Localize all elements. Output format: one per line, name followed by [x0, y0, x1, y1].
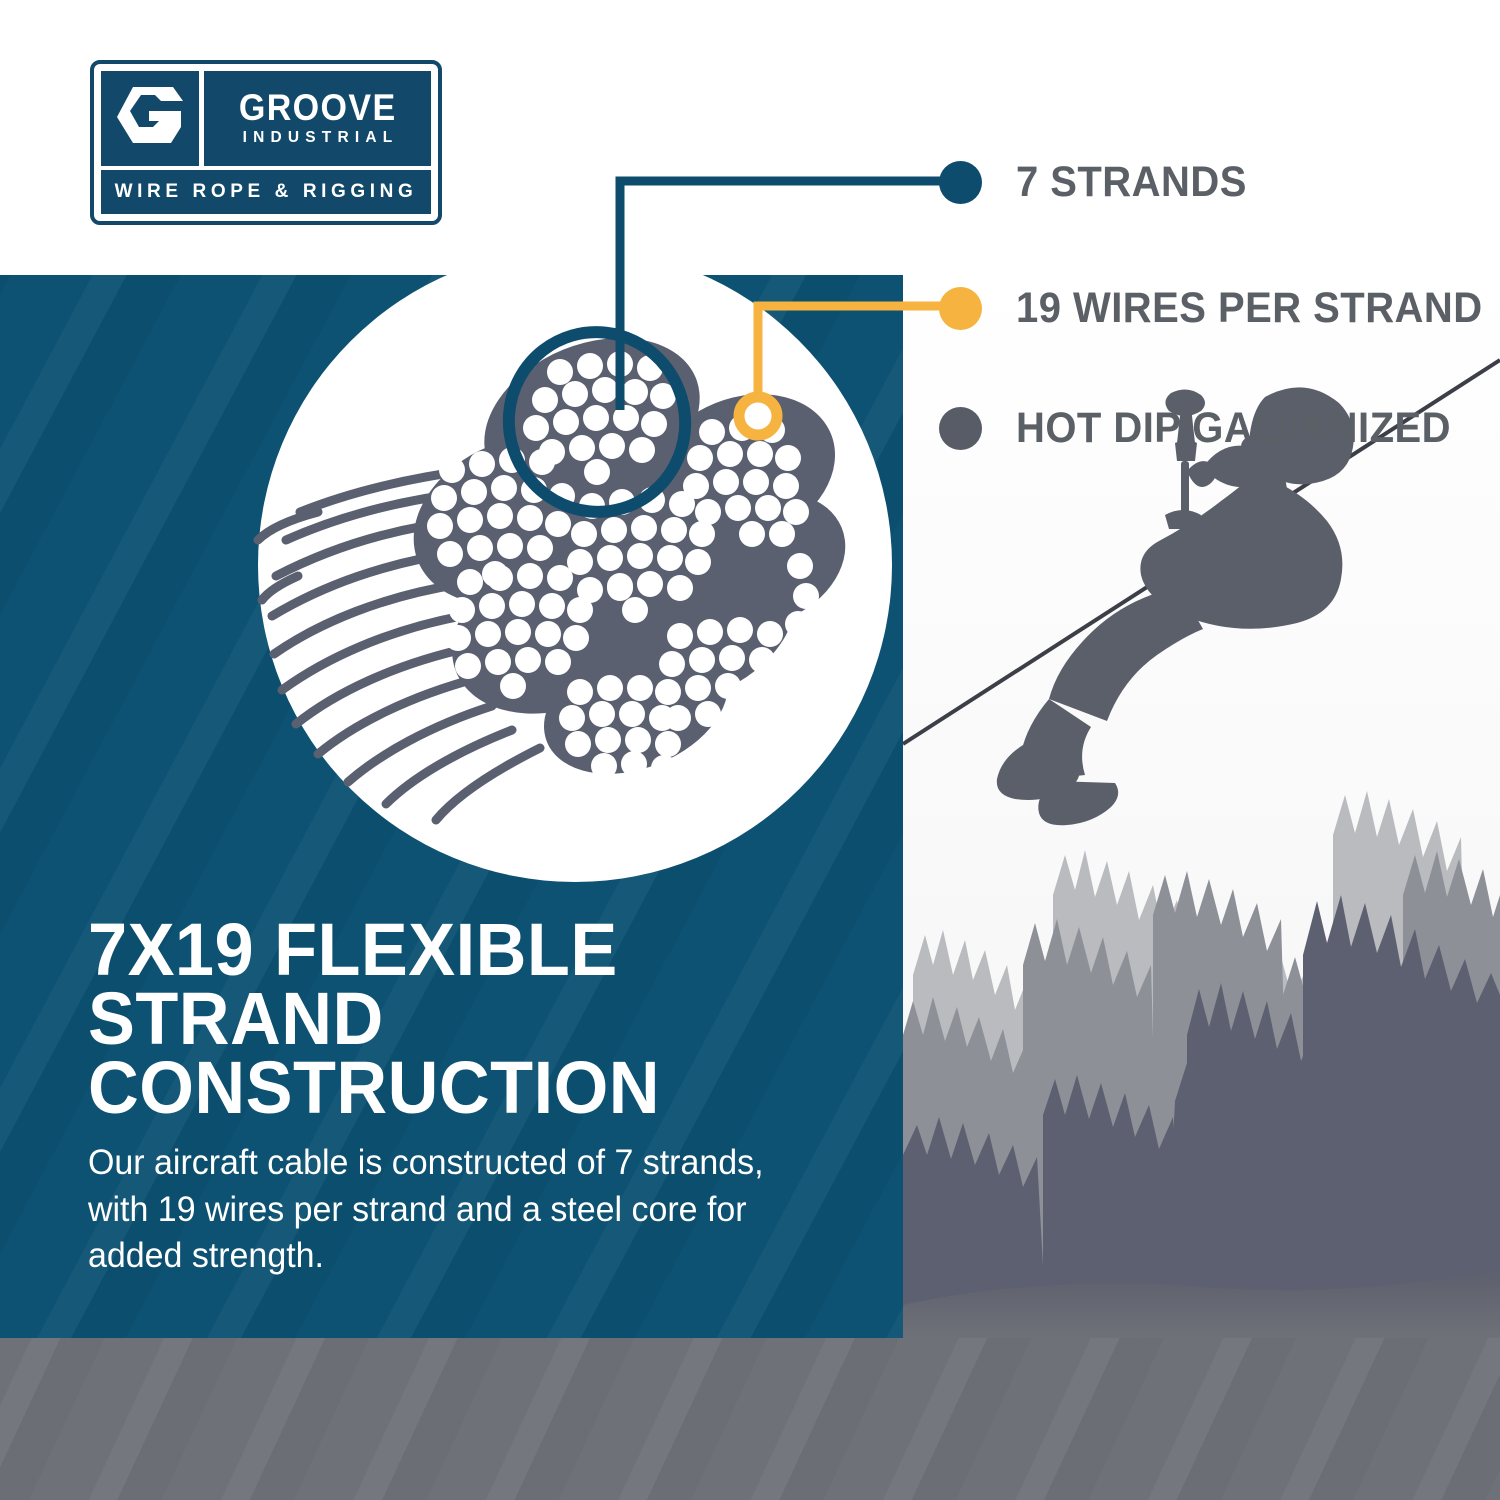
- page-title: 7X19 FLEXIBLE STRAND CONSTRUCTION: [88, 916, 839, 1122]
- brand-tagline: WIRE ROPE & RIGGING: [115, 181, 418, 203]
- illustration-disc: [258, 248, 892, 882]
- infographic-page: 7 STRANDS 19 WIRES PER STRAND HOT DIP GA…: [0, 0, 1500, 1500]
- headline-line-1: 7X19 FLEXIBLE: [88, 916, 839, 985]
- callout-galvanized: HOT DIP GALVANIZED: [939, 404, 1484, 453]
- callout-dot-gray-icon: [939, 407, 982, 450]
- brand-name: GROOVE: [239, 90, 397, 125]
- headline-line-2: STRAND CONSTRUCTION: [88, 985, 839, 1123]
- g-hex-glyph: [113, 83, 187, 155]
- brand-subname: INDUSTRIAL: [237, 129, 399, 147]
- callout-label-galvanized: HOT DIP GALVANIZED: [1016, 404, 1451, 453]
- callout-strands: 7 STRANDS: [939, 158, 1264, 207]
- callout-label-strands: 7 STRANDS: [1016, 158, 1247, 207]
- callout-dot-orange-icon: [939, 287, 982, 330]
- g-hex-icon: [101, 71, 199, 166]
- brand-logo: GROOVE INDUSTRIAL WIRE ROPE & RIGGING: [90, 60, 442, 225]
- brand-tagline-bar: WIRE ROPE & RIGGING: [101, 170, 431, 214]
- callout-label-wires: 19 WIRES PER STRAND: [1016, 284, 1483, 333]
- body-paragraph: Our aircraft cable is constructed of 7 s…: [88, 1140, 767, 1280]
- bottom-gray-band: [0, 1338, 1500, 1500]
- callout-wires: 19 WIRES PER STRAND: [939, 284, 1500, 333]
- callout-dot-navy-icon: [939, 161, 982, 204]
